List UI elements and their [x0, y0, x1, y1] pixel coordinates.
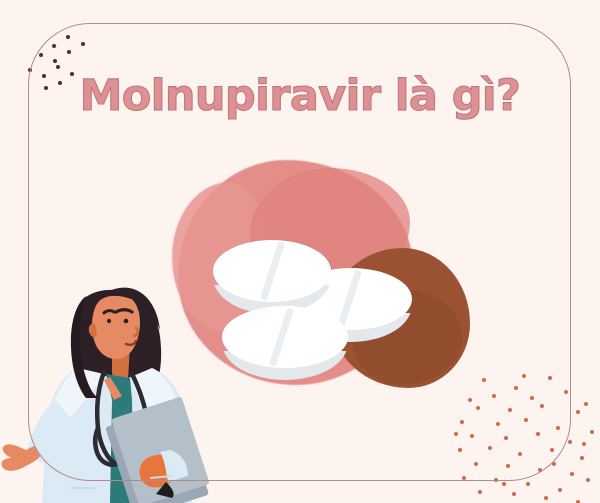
open-hand: [2, 444, 40, 470]
page-title: Molnupiravir là gì?: [0, 74, 600, 119]
eye-left: [107, 319, 111, 323]
female-doctor-illustration: [0, 250, 230, 503]
white-tablet: [222, 306, 348, 384]
face: [92, 292, 140, 359]
poster-canvas: Molnupiravir là gì?: [0, 0, 600, 503]
eye-right: [124, 319, 129, 324]
